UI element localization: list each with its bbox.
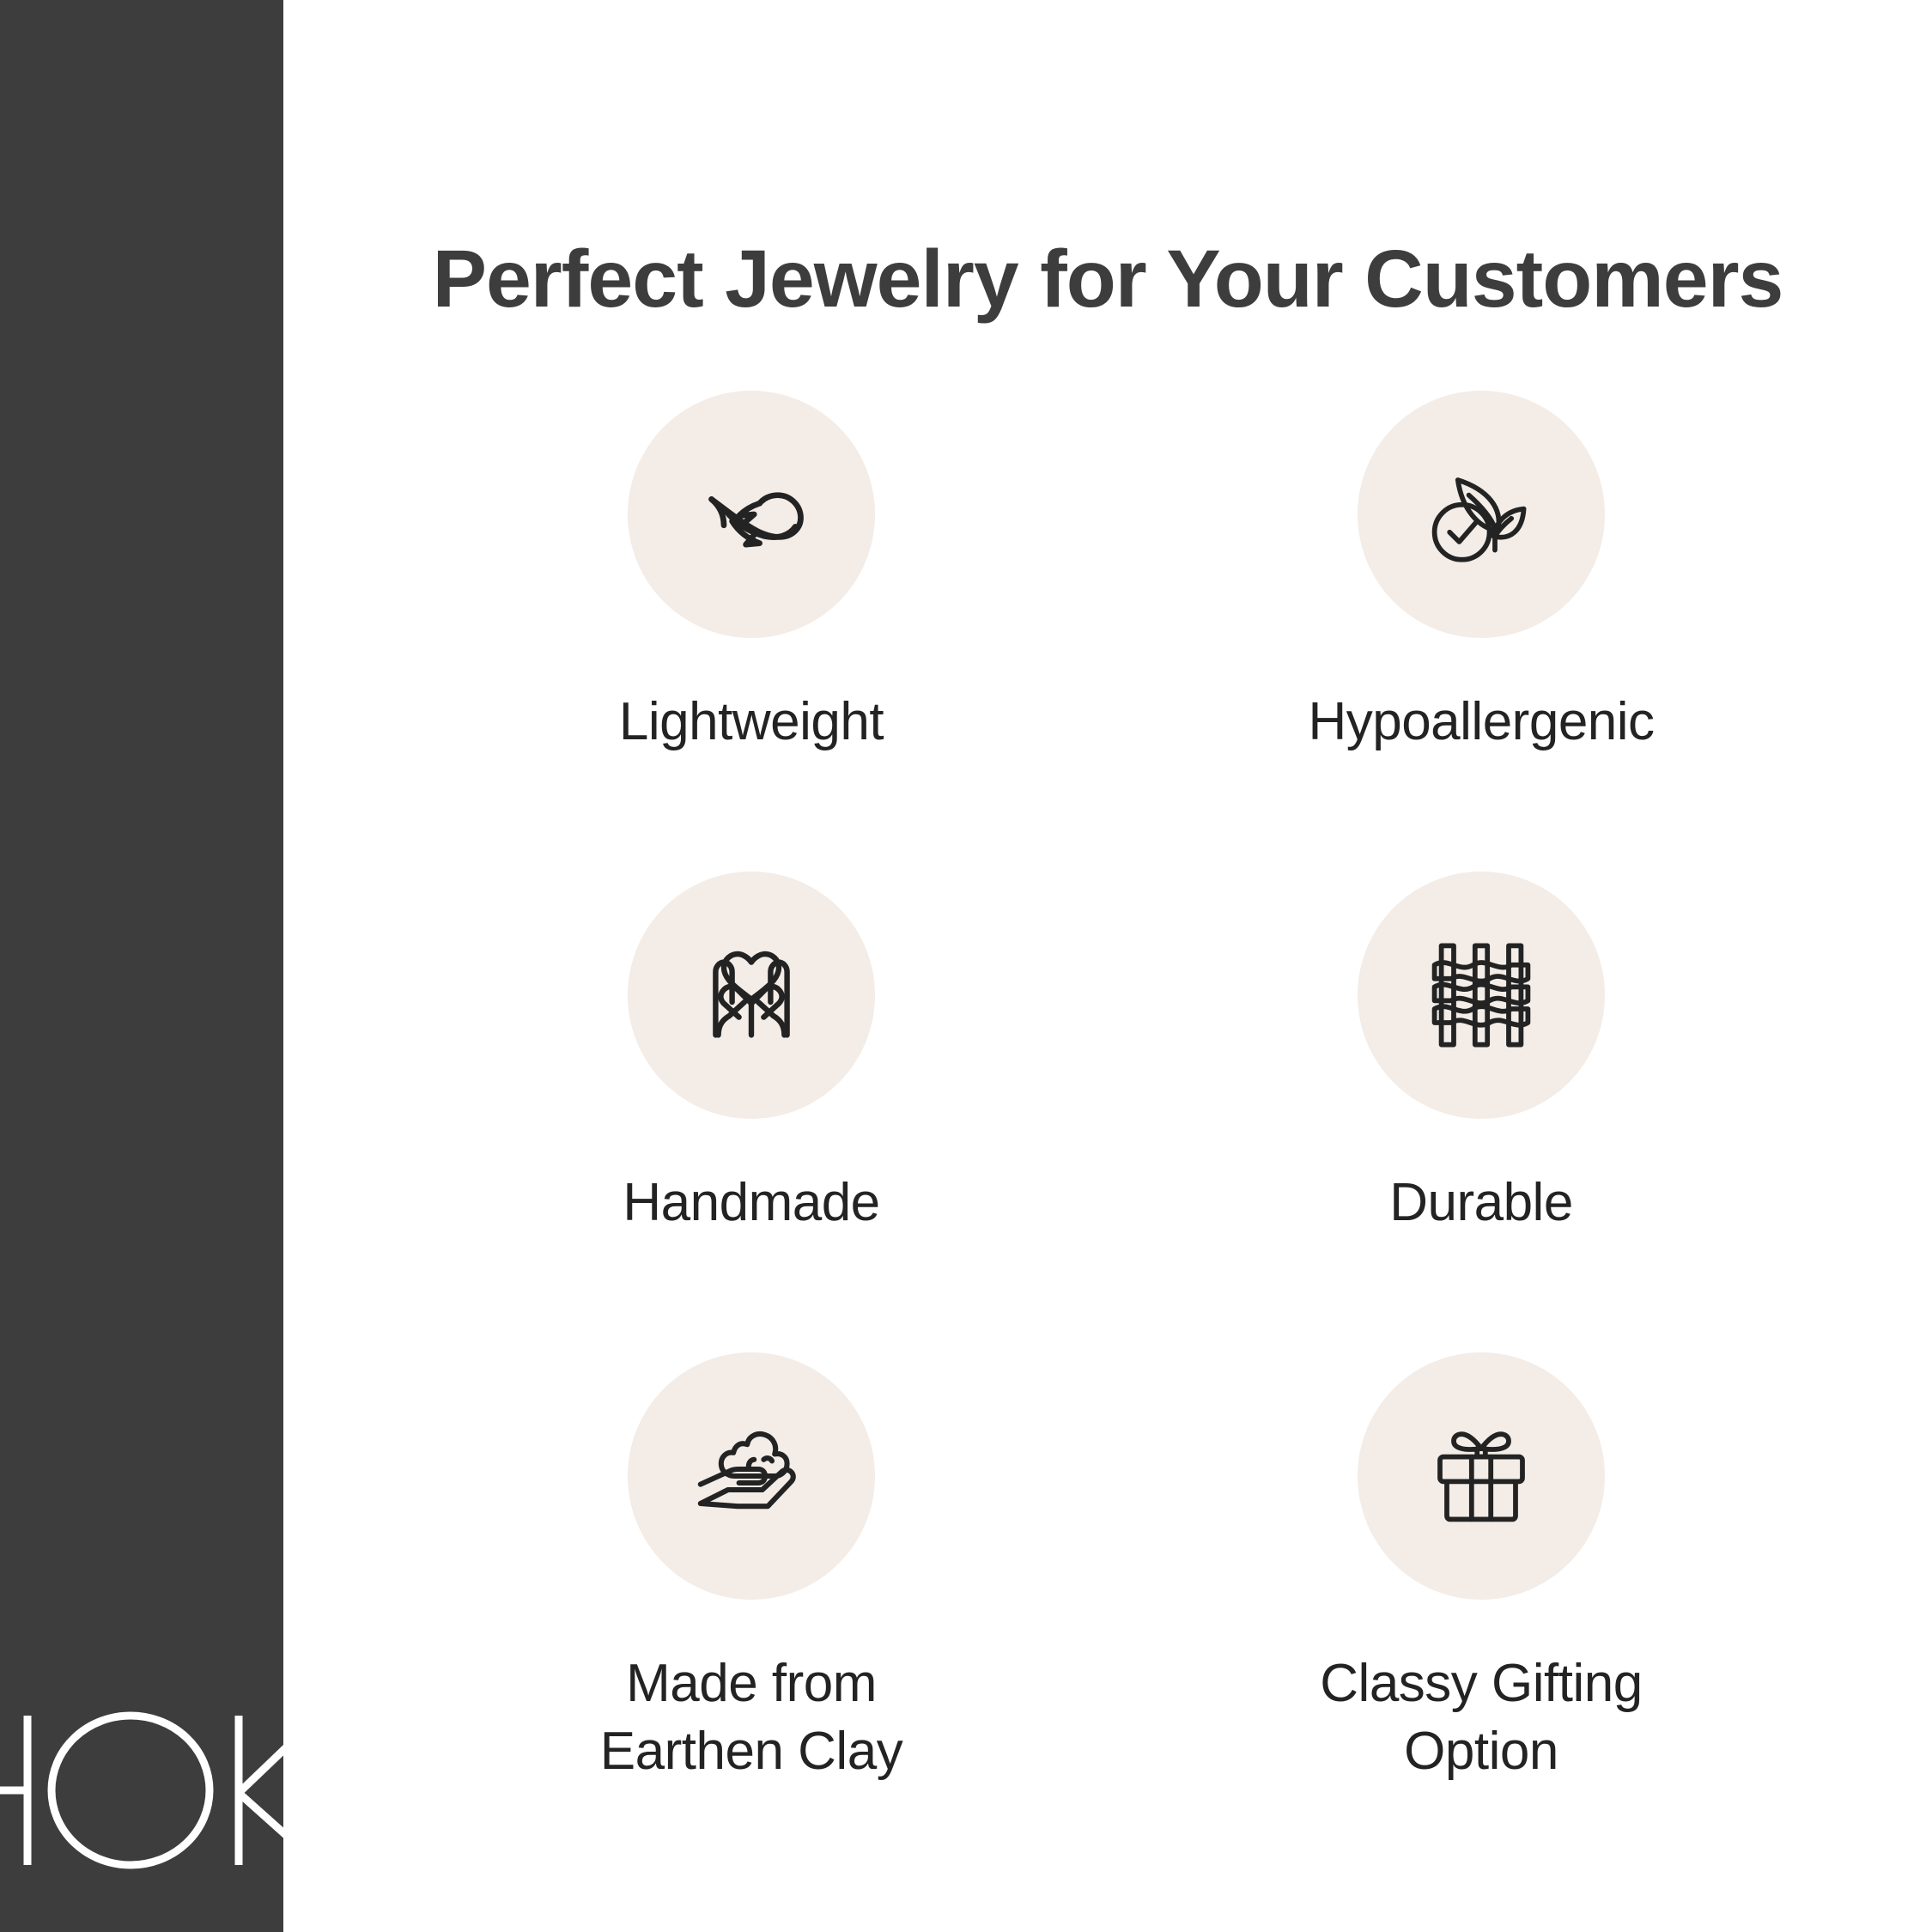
feature-label: Lightweight (619, 688, 884, 756)
main-content: Perfect Jewelry for Your Customers Light… (283, 0, 1932, 1932)
feature-label: Classy Gifting Option (1320, 1649, 1642, 1786)
feature-item-durable[interactable]: Durable (1116, 872, 1846, 1352)
feature-icon-circle (1358, 391, 1605, 638)
sidebar (0, 0, 283, 1932)
feature-item-handmade[interactable]: Handmade (386, 872, 1116, 1352)
feature-label: Made from Earthen Clay (600, 1649, 902, 1786)
gift-box-icon (1413, 1407, 1550, 1545)
hand-clay-icon (683, 1407, 820, 1545)
feather-icon (683, 446, 820, 583)
feature-label: Handmade (623, 1169, 879, 1236)
feature-icon-circle (628, 1352, 875, 1600)
brand-logo (0, 1683, 283, 1898)
feature-icon-circle (1358, 1352, 1605, 1600)
page-title: Perfect Jewelry for Your Customers (283, 237, 1932, 323)
feature-item-earthen-clay[interactable]: Made from Earthen Clay (386, 1352, 1116, 1833)
feature-item-lightweight[interactable]: Lightweight (386, 391, 1116, 872)
woven-mesh-icon (1413, 927, 1550, 1064)
feature-grid: Lightweight Hypoallergenic (386, 391, 1846, 1833)
feature-label: Hypoallergenic (1308, 688, 1654, 756)
feature-item-gifting[interactable]: Classy Gifting Option (1116, 1352, 1846, 1833)
feature-icon-circle (628, 391, 875, 638)
feature-label: Durable (1389, 1169, 1573, 1236)
hands-heart-icon (683, 927, 820, 1064)
leaf-check-icon (1413, 446, 1550, 583)
feature-icon-circle (628, 872, 875, 1119)
feature-icon-circle (1358, 872, 1605, 1119)
feature-item-hypoallergenic[interactable]: Hypoallergenic (1116, 391, 1846, 872)
